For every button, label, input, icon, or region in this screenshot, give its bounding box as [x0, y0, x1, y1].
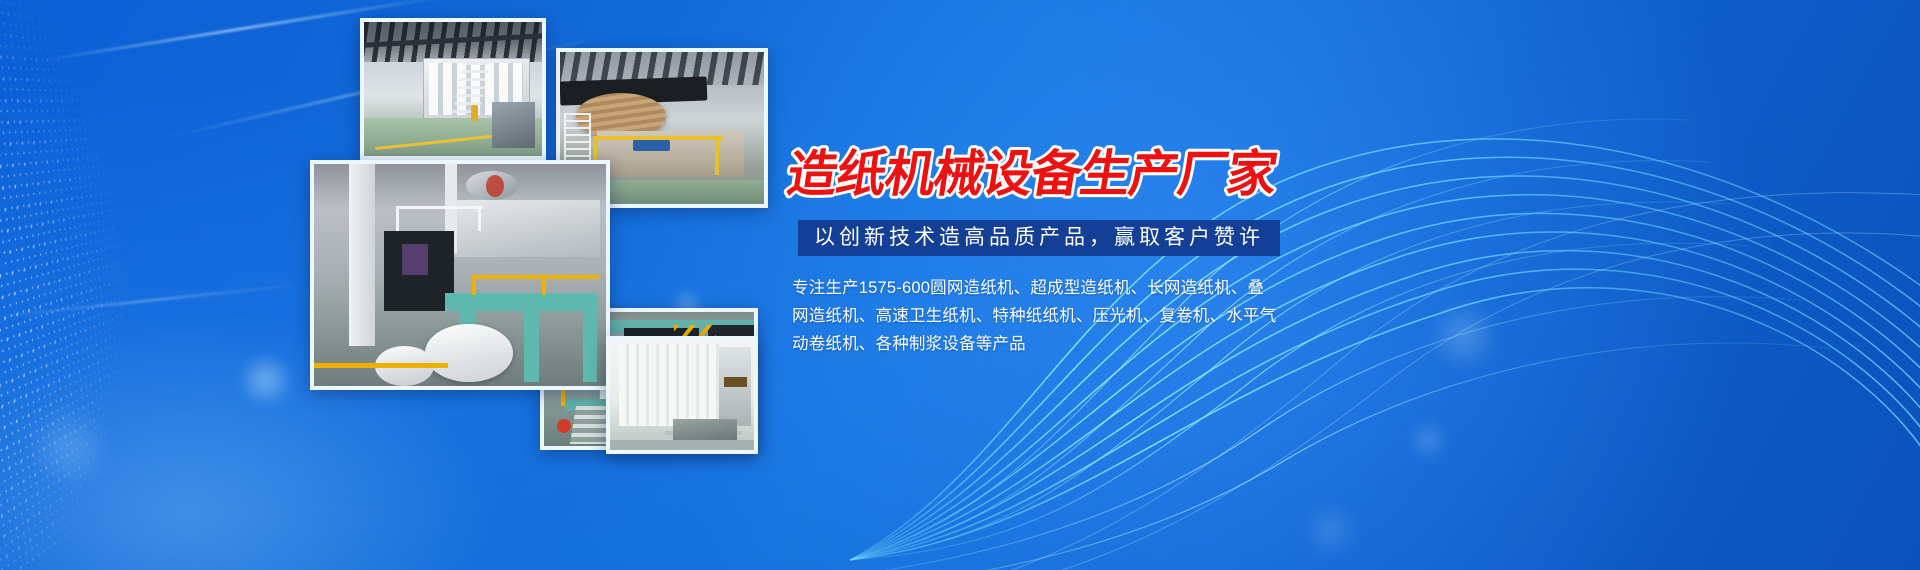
subtitle-text: 以创新技术造高品质产品，赢取客户赞许 — [814, 227, 1264, 248]
subtitle-bar: 以创新技术造高品质产品，赢取客户赞许 — [798, 220, 1280, 256]
bokeh-dot — [1406, 418, 1450, 462]
promo-banner: 造纸机械设备生产厂家 以创新技术造高品质产品，赢取客户赞许 专注生产1575-6… — [0, 0, 1920, 570]
description-text: 专注生产1575-600圆网造纸机、超成型造纸机、长网造纸机、叠网造纸机、高速卫… — [792, 274, 1279, 358]
photo-large-paper-machine-line — [310, 160, 610, 390]
headline-text: 造纸机械设备生产厂家 — [783, 144, 1282, 203]
photo-workshop-interior — [606, 336, 758, 454]
led-dot-matrix-background — [0, 0, 191, 570]
led-dot-layer-fine — [0, 0, 191, 570]
light-streak — [0, 283, 309, 319]
banner-copy: 造纸机械设备生产厂家 以创新技术造高品质产品，赢取客户赞许 专注生产1575-6… — [790, 136, 1350, 358]
bokeh-dot — [26, 404, 112, 490]
led-dot-layer-bright — [0, 0, 191, 570]
bokeh-dot — [1428, 300, 1500, 372]
page-title: 造纸机械设备生产厂家 — [792, 136, 1350, 210]
bokeh-dot — [1300, 500, 1360, 560]
photo-paper-machine-workshop-hall — [360, 18, 546, 160]
bokeh-dot — [238, 352, 294, 408]
